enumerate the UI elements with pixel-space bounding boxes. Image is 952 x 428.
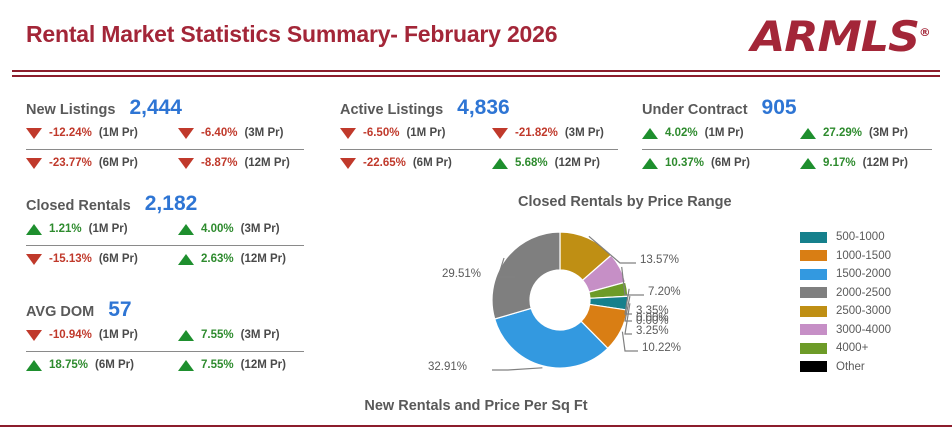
- legend-item-other[interactable]: Other: [800, 358, 891, 377]
- stat-period: (12M Pr): [241, 359, 286, 371]
- stat-period: (6M Pr): [711, 157, 750, 169]
- legend-swatch-icon: [800, 232, 827, 243]
- donut-label-3000-4000: 7.20%: [648, 286, 681, 298]
- stat-period: (1M Pr): [406, 127, 445, 139]
- legend-label: Other: [836, 361, 865, 373]
- stat-period: (6M Pr): [99, 253, 138, 265]
- legend-label: 4000+: [836, 342, 868, 354]
- stat-1m: -10.94% (1M Pr): [12, 322, 164, 348]
- card-label: Active Listings: [340, 102, 443, 118]
- stat-6m: 10.37% (6M Pr): [628, 150, 786, 176]
- closed-rentals-donut-chart: 29.51% 32.91% 13.57% 7.20% 3.35% 0.00% 0…: [420, 215, 790, 385]
- stat-pct: -8.87%: [201, 157, 237, 169]
- legend-swatch-icon: [800, 361, 827, 372]
- header-rule-primary: [12, 70, 940, 72]
- legend-swatch-icon: [800, 343, 827, 354]
- trend-up-icon: [492, 158, 508, 169]
- card-label: New Listings: [26, 102, 115, 118]
- stat-6m: 18.75% (6M Pr): [12, 352, 164, 378]
- card-stat-row-top: -10.94% (1M Pr) 7.55% (3M Pr): [12, 322, 312, 348]
- legend-item-2500-3000[interactable]: 2500-3000: [800, 302, 891, 321]
- stat-pct: 7.55%: [201, 329, 234, 341]
- stat-pct: 27.29%: [823, 127, 862, 139]
- rental-market-summary-page: Rental Market Statistics Summary- Februa…: [0, 0, 952, 428]
- legend-item-2000-2500[interactable]: 2000-2500: [800, 284, 891, 303]
- donut-label-2500-3000: 13.57%: [640, 254, 679, 266]
- legend-item-500-1000[interactable]: 500-1000: [800, 228, 891, 247]
- registered-trademark-icon: ®: [919, 26, 930, 39]
- stat-period: (12M Pr): [863, 157, 908, 169]
- leader-line-1500-2000: [492, 368, 542, 370]
- stat-12m: 5.68% (12M Pr): [478, 150, 626, 176]
- card-stat-row-top: 4.02% (1M Pr) 27.29% (3M Pr): [628, 120, 940, 146]
- armls-logo-text: ARMLS®: [751, 16, 930, 58]
- stat-period: (1M Pr): [89, 223, 128, 235]
- card-header: Active Listings 4,836: [326, 96, 626, 120]
- trend-up-icon: [642, 158, 658, 169]
- stat-6m: -22.65% (6M Pr): [326, 150, 478, 176]
- stat-period: (1M Pr): [99, 127, 138, 139]
- stat-pct: 4.02%: [665, 127, 698, 139]
- stat-1m: 4.02% (1M Pr): [628, 120, 786, 146]
- stat-period: (1M Pr): [99, 329, 138, 341]
- legend-label: 2500-3000: [836, 305, 891, 317]
- legend-label: 2000-2500: [836, 287, 891, 299]
- stat-pct: 10.37%: [665, 157, 704, 169]
- stat-period: (12M Pr): [555, 157, 600, 169]
- stat-1m: -6.50% (1M Pr): [326, 120, 478, 146]
- stat-period: (3M Pr): [869, 127, 908, 139]
- stat-pct: 7.55%: [201, 359, 234, 371]
- legend-label: 500-1000: [836, 231, 885, 243]
- trend-down-icon: [340, 158, 356, 169]
- stat-period: (12M Pr): [241, 253, 286, 265]
- armls-logo: ARMLS®: [761, 12, 930, 62]
- stat-pct: 5.68%: [515, 157, 548, 169]
- stat-1m: -12.24% (1M Pr): [12, 120, 164, 146]
- metric-card-active-listings: Active Listings 4,836 -6.50% (1M Pr) -21…: [326, 96, 626, 176]
- legend-swatch-icon: [800, 250, 827, 261]
- legend-item-3000-4000[interactable]: 3000-4000: [800, 321, 891, 340]
- stat-period: (3M Pr): [565, 127, 604, 139]
- trend-up-icon: [178, 254, 194, 265]
- page-header: Rental Market Statistics Summary- Februa…: [0, 0, 952, 76]
- stat-pct: 4.00%: [201, 223, 234, 235]
- trend-up-icon: [178, 330, 194, 341]
- card-value: 2,182: [145, 192, 198, 216]
- trend-down-icon: [26, 128, 42, 139]
- card-header: New Listings 2,444: [12, 96, 312, 120]
- stat-3m: -21.82% (3M Pr): [478, 120, 626, 146]
- donut-slice-2000-2500[interactable]: [492, 232, 560, 319]
- card-stat-row-bottom: -15.13% (6M Pr) 2.63% (12M Pr): [12, 246, 312, 272]
- page-title-period: - February 2026: [390, 21, 557, 47]
- card-value: 905: [762, 96, 797, 120]
- legend-swatch-icon: [800, 287, 827, 298]
- chart-title: Closed Rentals by Price Range: [518, 194, 732, 210]
- trend-up-icon: [178, 360, 194, 371]
- card-value: 2,444: [129, 96, 182, 120]
- trend-down-icon: [340, 128, 356, 139]
- legend-item-1500-2000[interactable]: 1500-2000: [800, 265, 891, 284]
- stat-pct: 2.63%: [201, 253, 234, 265]
- legend-label: 3000-4000: [836, 324, 891, 336]
- donut-label-1000-1500: 10.22%: [642, 342, 681, 354]
- trend-up-icon: [26, 360, 42, 371]
- legend-item-1000-1500[interactable]: 1000-1500: [800, 247, 891, 266]
- card-header: Closed Rentals 2,182: [12, 192, 312, 216]
- card-header: Under Contract 905: [628, 96, 940, 120]
- metric-card-new-listings: New Listings 2,444 -12.24% (1M Pr) -6.40…: [12, 96, 312, 176]
- card-value: 4,836: [457, 96, 510, 120]
- legend-swatch-icon: [800, 324, 827, 335]
- stat-12m: 9.17% (12M Pr): [786, 150, 936, 176]
- stat-pct: -15.13%: [49, 253, 92, 265]
- stat-pct: -12.24%: [49, 127, 92, 139]
- donut-label-1500-2000: 32.91%: [428, 361, 467, 373]
- trend-up-icon: [800, 128, 816, 139]
- legend-label: 1500-2000: [836, 268, 891, 280]
- footer-rule: [0, 425, 952, 427]
- metric-card-avg-dom: AVG DOM 57 -10.94% (1M Pr) 7.55% (3M Pr)…: [12, 298, 312, 378]
- metric-card-under-contract: Under Contract 905 4.02% (1M Pr) 27.29% …: [628, 96, 940, 176]
- stat-3m: -6.40% (3M Pr): [164, 120, 312, 146]
- stat-3m: 4.00% (3M Pr): [164, 216, 312, 242]
- stat-pct: 9.17%: [823, 157, 856, 169]
- stat-12m: 2.63% (12M Pr): [164, 246, 312, 272]
- trend-up-icon: [642, 128, 658, 139]
- stat-pct: 1.21%: [49, 223, 82, 235]
- stat-pct: 18.75%: [49, 359, 88, 371]
- stat-12m: 7.55% (12M Pr): [164, 352, 312, 378]
- legend-swatch-icon: [800, 269, 827, 280]
- stat-3m: 27.29% (3M Pr): [786, 120, 936, 146]
- card-stat-row-bottom: 10.37% (6M Pr) 9.17% (12M Pr): [628, 150, 940, 176]
- stat-period: (3M Pr): [241, 223, 280, 235]
- stat-period: (1M Pr): [705, 127, 744, 139]
- stat-pct: -6.40%: [201, 127, 237, 139]
- page-title: Rental Market Statistics Summary- Februa…: [26, 21, 557, 48]
- section-title-new-rentals: New Rentals and Price Per Sq Ft: [0, 398, 952, 414]
- stat-3m: 7.55% (3M Pr): [164, 322, 312, 348]
- header-rule-secondary: [12, 75, 940, 77]
- donut-label-2000-2500: 29.51%: [442, 268, 481, 280]
- donut-label-500-1000: 3.25%: [636, 325, 669, 337]
- stat-period: (3M Pr): [241, 329, 280, 341]
- card-stat-row-bottom: -23.77% (6M Pr) -8.87% (12M Pr): [12, 150, 312, 176]
- stat-period: (6M Pr): [99, 157, 138, 169]
- metric-card-closed-rentals: Closed Rentals 2,182 1.21% (1M Pr) 4.00%…: [12, 192, 312, 272]
- trend-up-icon: [26, 224, 42, 235]
- card-label: Under Contract: [642, 102, 748, 118]
- stat-pct: -21.82%: [515, 127, 558, 139]
- trend-down-icon: [178, 128, 194, 139]
- card-stat-row-top: -12.24% (1M Pr) -6.40% (3M Pr): [12, 120, 312, 146]
- stat-period: (6M Pr): [95, 359, 134, 371]
- card-header: AVG DOM 57: [12, 298, 312, 322]
- card-label: AVG DOM: [26, 304, 94, 320]
- trend-down-icon: [178, 158, 194, 169]
- legend-label: 1000-1500: [836, 250, 891, 262]
- card-stat-row-top: 1.21% (1M Pr) 4.00% (3M Pr): [12, 216, 312, 242]
- trend-down-icon: [26, 330, 42, 341]
- stat-1m: 1.21% (1M Pr): [12, 216, 164, 242]
- trend-down-icon: [492, 128, 508, 139]
- legend-swatch-icon: [800, 306, 827, 317]
- card-stat-row-top: -6.50% (1M Pr) -21.82% (3M Pr): [326, 120, 626, 146]
- stat-period: (3M Pr): [244, 127, 283, 139]
- stat-6m: -23.77% (6M Pr): [12, 150, 164, 176]
- trend-down-icon: [26, 158, 42, 169]
- card-value: 57: [108, 298, 131, 322]
- stat-pct: -10.94%: [49, 329, 92, 341]
- trend-up-icon: [800, 158, 816, 169]
- armls-wordmark: ARMLS: [751, 12, 919, 61]
- trend-down-icon: [26, 254, 42, 265]
- stat-12m: -8.87% (12M Pr): [164, 150, 312, 176]
- card-stat-row-bottom: 18.75% (6M Pr) 7.55% (12M Pr): [12, 352, 312, 378]
- card-label: Closed Rentals: [26, 198, 131, 214]
- stat-pct: -22.65%: [363, 157, 406, 169]
- chart-legend: 500-1000 1000-1500 1500-2000 2000-2500 2…: [800, 228, 891, 376]
- stat-period: (6M Pr): [413, 157, 452, 169]
- donut-svg: [420, 215, 790, 385]
- stat-period: (12M Pr): [244, 157, 289, 169]
- legend-item-4000-plus[interactable]: 4000+: [800, 339, 891, 358]
- stat-pct: -6.50%: [363, 127, 399, 139]
- trend-up-icon: [178, 224, 194, 235]
- stat-6m: -15.13% (6M Pr): [12, 246, 164, 272]
- page-title-main: Rental Market Statistics Summary: [26, 21, 390, 47]
- card-stat-row-bottom: -22.65% (6M Pr) 5.68% (12M Pr): [326, 150, 626, 176]
- stat-pct: -23.77%: [49, 157, 92, 169]
